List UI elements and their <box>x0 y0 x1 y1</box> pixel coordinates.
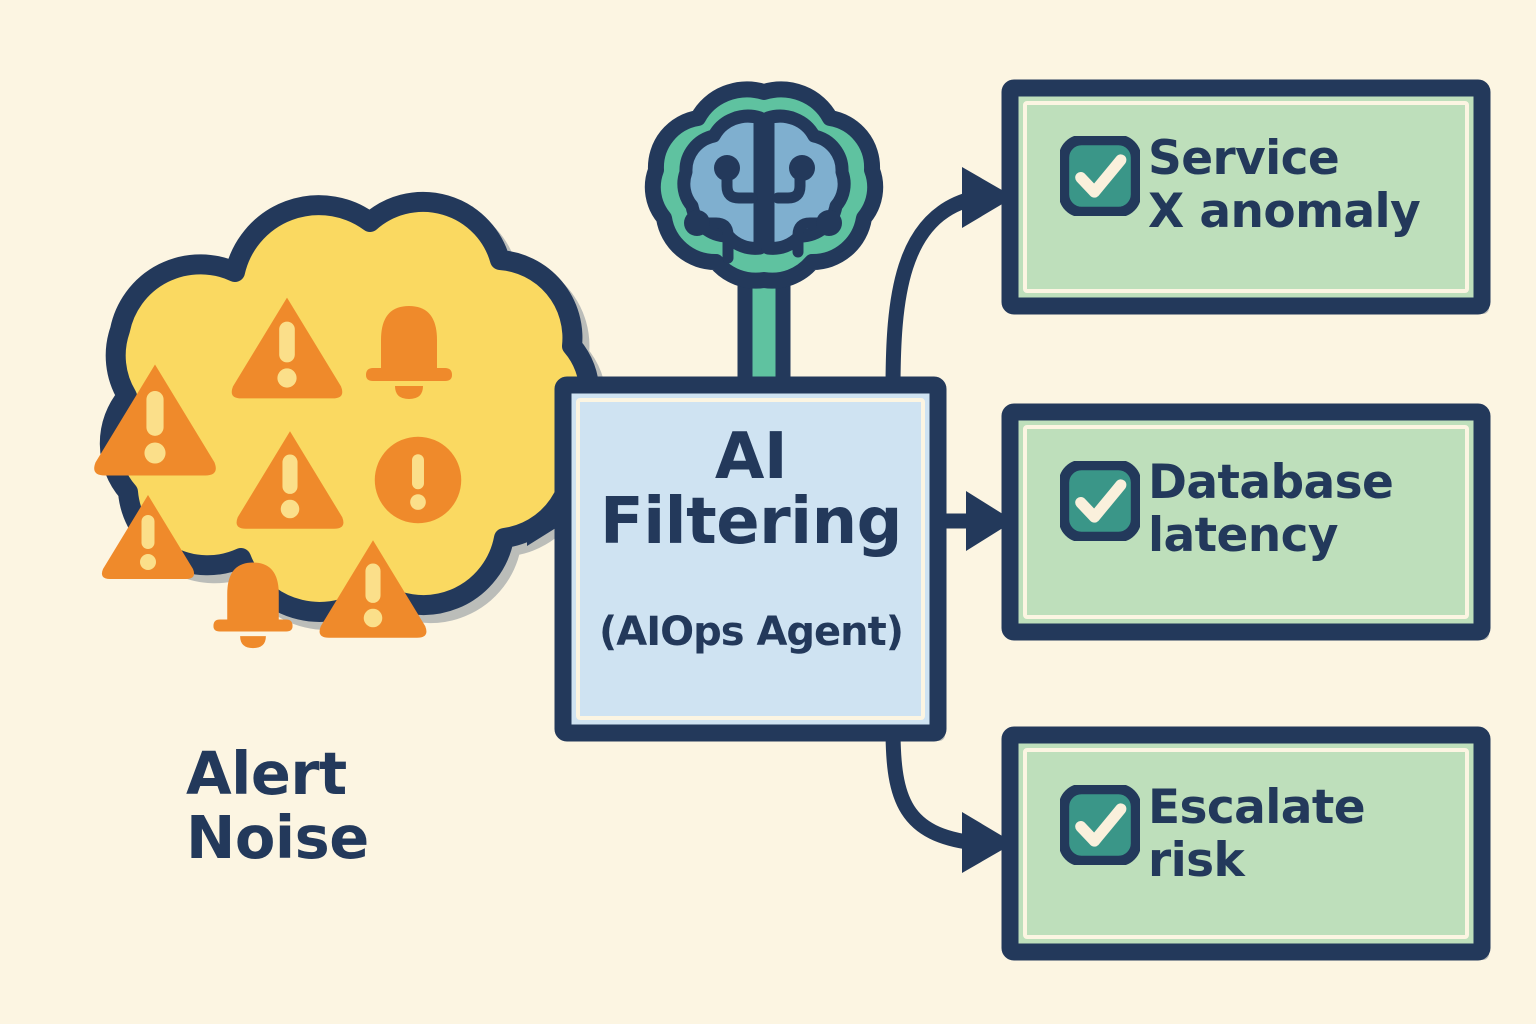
checkbox-checked-icon[interactable] <box>1064 789 1136 861</box>
ai-to-escalate-arrow <box>893 729 1014 873</box>
ai-filtering-subtitle: (AIOps Agent) <box>565 612 937 654</box>
checkbox-checked-icon[interactable] <box>1064 465 1136 537</box>
output-label-database-latency: Database latency <box>1148 457 1478 562</box>
alert-noise-label: Alert Noise <box>186 742 369 869</box>
brain-circuit-icon <box>653 89 875 392</box>
output-label-service-x-anomaly: Service X anomaly <box>1148 133 1478 238</box>
output-label-escalate-risk: Escalate risk <box>1148 782 1478 887</box>
ai-filtering-title: AI Filtering <box>565 425 937 556</box>
diagram-canvas: Alert Noise AI Filtering (AIOps Agent) S… <box>0 0 1536 1024</box>
checkbox-checked-icon[interactable] <box>1064 140 1136 212</box>
circle-exclamation-icon <box>375 437 461 523</box>
ai-to-service-x-arrow <box>893 167 1014 390</box>
